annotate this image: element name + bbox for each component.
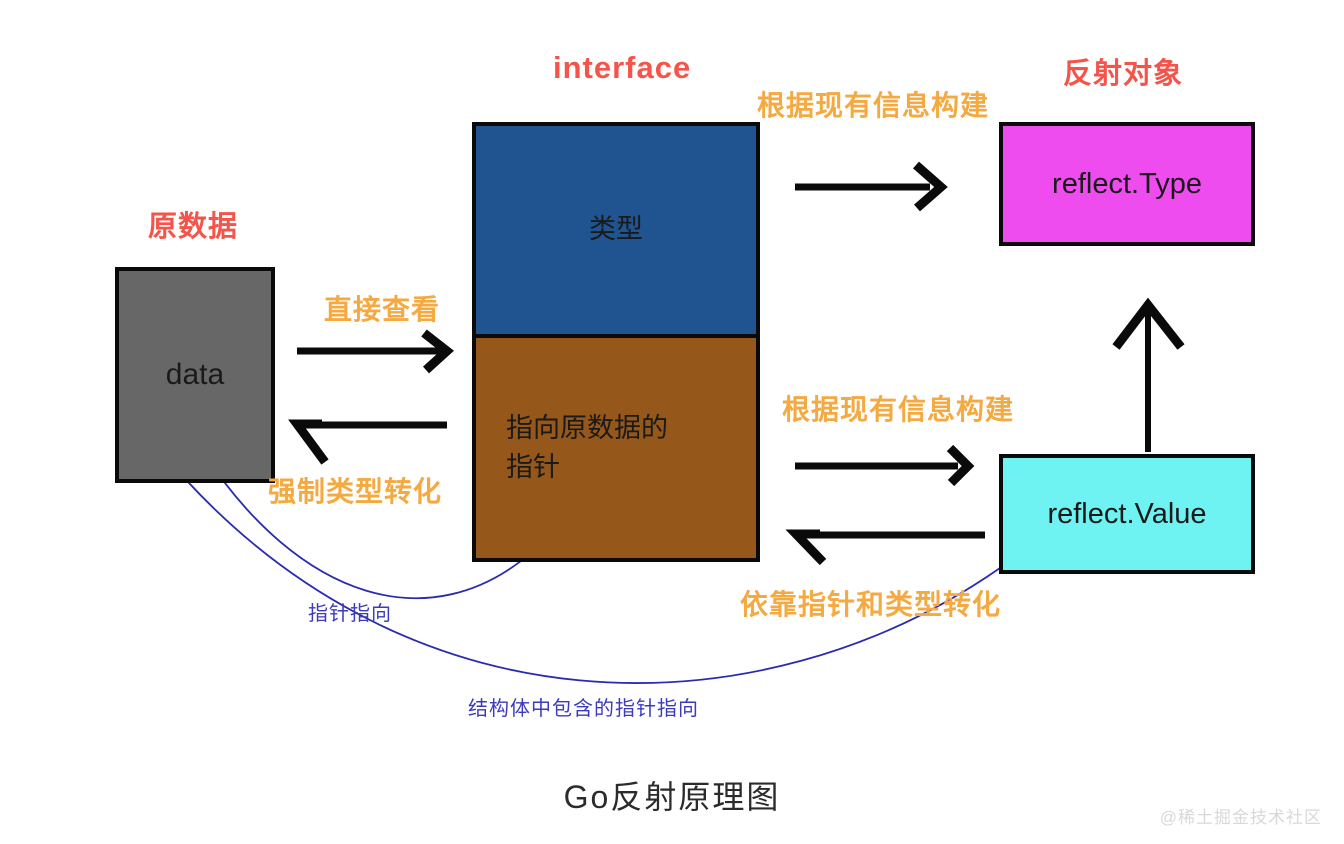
pointer-label-pointer-to: 指针指向 <box>308 597 392 626</box>
section-title-reflect-object: 反射对象 <box>1063 50 1183 92</box>
interface-type-label: 类型 <box>589 210 643 249</box>
edge-label-build-type: 根据现有信息构建 <box>757 84 989 124</box>
section-title-interface: interface <box>553 50 691 86</box>
reflect-value-label: reflect.Value <box>1047 493 1206 535</box>
arrow-rely-pointer-type <box>796 534 985 562</box>
interface-pointer-box[interactable]: 指向原数据的 指针 <box>472 338 760 562</box>
edge-label-rely-pointer-type: 依靠指针和类型转化 <box>740 583 1001 623</box>
data-box-label: data <box>166 353 224 397</box>
diagram-canvas: 原数据 interface 反射对象 data 类型 指向原数据的 指针 ref… <box>0 0 1344 844</box>
reflect-value-box[interactable]: reflect.Value <box>999 454 1255 574</box>
data-box[interactable]: data <box>115 267 275 483</box>
reflect-type-label: reflect.Type <box>1052 163 1202 205</box>
interface-pointer-line2: 指针 <box>506 452 560 482</box>
edge-label-force-type-cast: 强制类型转化 <box>268 470 442 510</box>
arrow-force-type-cast <box>297 424 447 462</box>
arrow-value-to-type <box>1116 305 1181 452</box>
diagram-title: Go反射原理图 <box>0 772 1344 818</box>
reflect-type-box[interactable]: reflect.Type <box>999 122 1255 246</box>
pointer-label-struct-pointer-to: 结构体中包含的指针指向 <box>468 692 699 721</box>
arrow-build-type <box>795 165 941 208</box>
interface-type-box[interactable]: 类型 <box>472 122 760 338</box>
arrow-direct-view <box>297 333 447 370</box>
arrow-build-value <box>795 448 968 483</box>
interface-pointer-label: 指向原数据的 指针 <box>506 409 668 487</box>
edge-label-build-value: 根据现有信息构建 <box>782 388 1014 428</box>
edge-label-direct-view: 直接查看 <box>324 288 440 328</box>
section-title-raw-data: 原数据 <box>148 203 238 245</box>
interface-pointer-line1: 指向原数据的 <box>506 413 668 443</box>
watermark: @稀土掘金技术社区 <box>1160 803 1322 828</box>
